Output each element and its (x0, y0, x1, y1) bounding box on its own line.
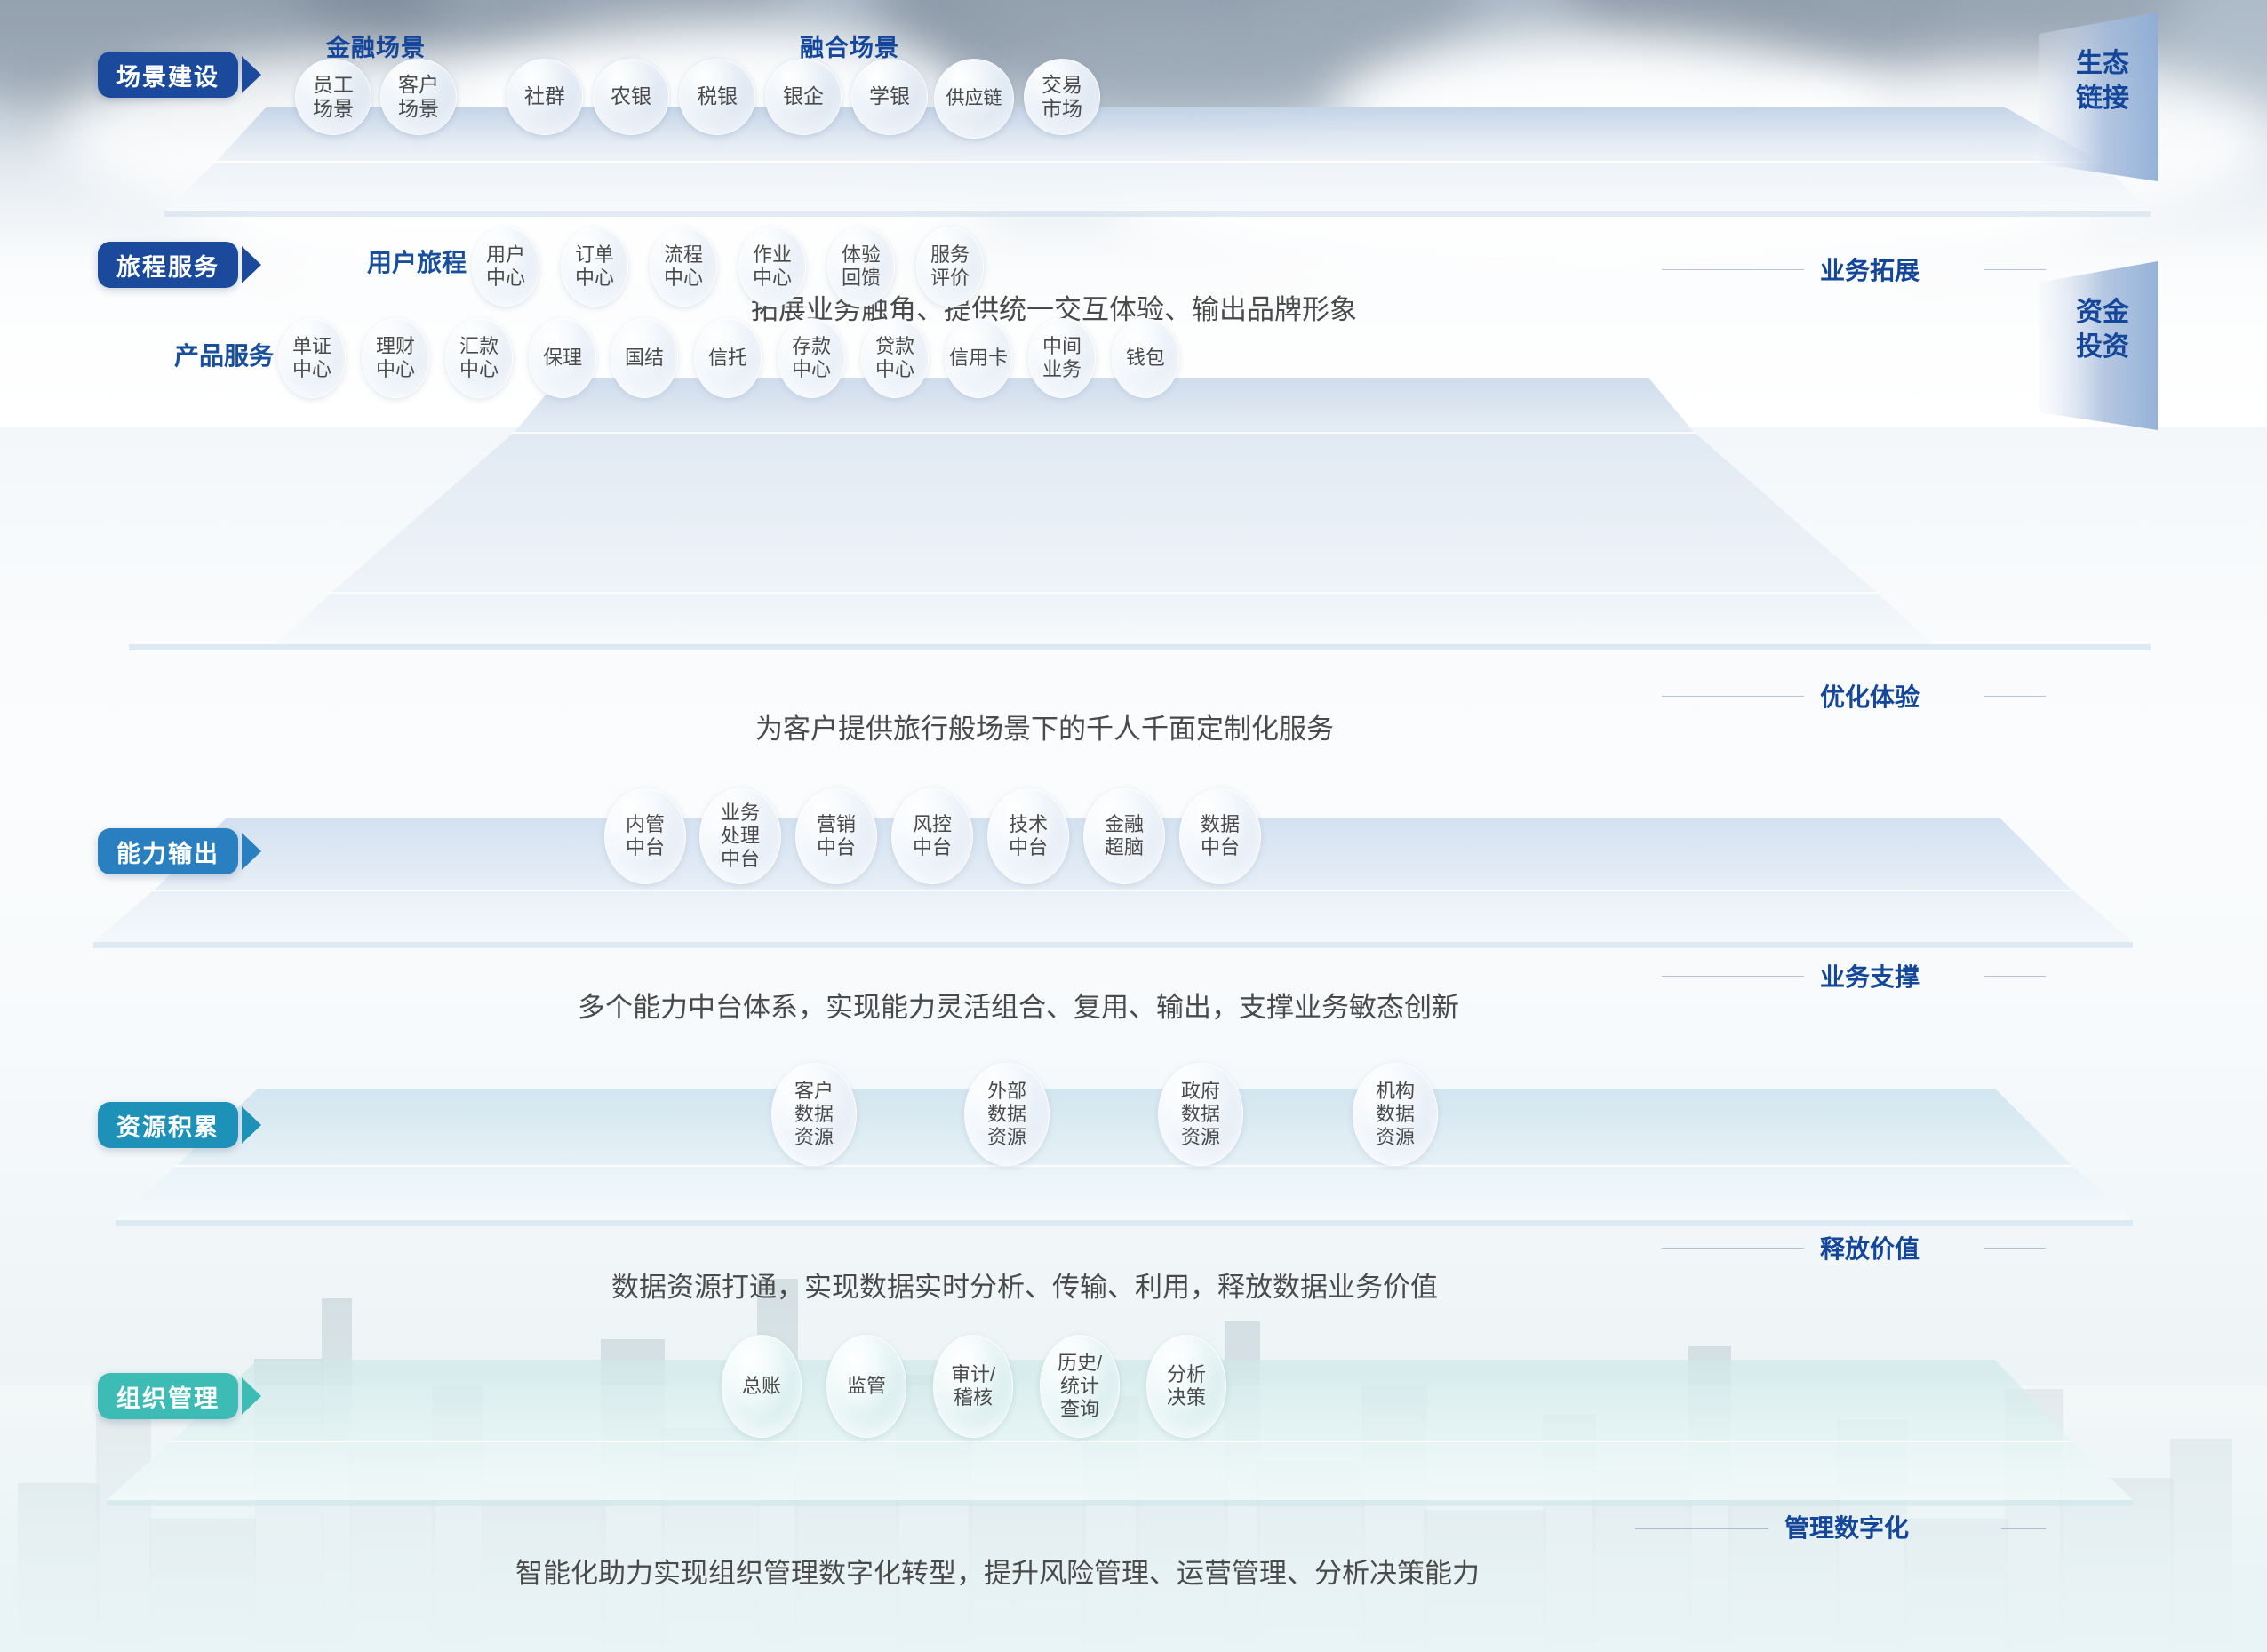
bubble-agri-bank[interactable]: 农银 (593, 59, 669, 135)
keyword-business-support: 业务支撑 (1820, 958, 1920, 994)
bubble-trust[interactable]: 信托 (694, 318, 762, 398)
caption-layer3: 多个能力中台体系，实现能力灵活组合、复用、输出，支撑业务敏态创新 (578, 985, 1459, 1025)
keyword-rule-left-3 (1662, 976, 1804, 977)
keyword-rule-right-5 (2001, 1528, 2046, 1529)
bubble-customer-data-resource[interactable]: 客户数据资源 (771, 1063, 857, 1166)
layer-pill-capability[interactable]: 能力输出 (98, 828, 238, 874)
layer-pill-journey[interactable]: 旅程服务 (98, 242, 238, 288)
bubble-analysis-decision[interactable]: 分析决策 (1146, 1335, 1226, 1438)
bubble-business-process-platform[interactable]: 业务处理中台 (699, 788, 781, 884)
caption-layer4: 数据资源打通，实现数据实时分析、传输、利用，释放数据业务价值 (611, 1265, 1438, 1305)
bubble-service-rating[interactable]: 服务评价 (916, 227, 984, 307)
caption-layer2: 为客户提供旅行般场景下的千人千面定制化服务 (755, 706, 1334, 746)
heading-financial-scene: 金融场景 (326, 28, 426, 63)
bubble-bank-enterprise[interactable]: 银企 (765, 59, 842, 135)
bubble-data-platform[interactable]: 数据中台 (1179, 788, 1261, 884)
bubble-community[interactable]: 社群 (507, 59, 583, 135)
layer-pill-resource[interactable]: 资源积累 (98, 1102, 238, 1148)
group-label-user-journey: 用户旅程 (367, 243, 467, 279)
bubble-experience-feedback[interactable]: 体验回馈 (827, 227, 895, 307)
bubble-tax-bank[interactable]: 税银 (679, 59, 755, 135)
bubble-finance-brain[interactable]: 金融超脑 (1083, 788, 1165, 884)
keyword-rule-right-4 (1984, 1248, 2046, 1249)
bubble-intermediary-business[interactable]: 中间业务 (1028, 318, 1096, 398)
keyword-optimize-experience: 优化体验 (1820, 678, 1920, 714)
bubble-intl-settlement[interactable]: 国结 (611, 318, 678, 398)
group-label-product-service: 产品服务 (174, 337, 274, 372)
bubble-remittance-center[interactable]: 汇款中心 (445, 318, 513, 398)
bubble-government-data-resource[interactable]: 政府数据资源 (1158, 1063, 1243, 1166)
heading-fusion-scene: 融合场景 (800, 28, 899, 63)
bubble-trade-market[interactable]: 交易市场 (1024, 59, 1100, 135)
bubble-wealth-center[interactable]: 理财中心 (362, 318, 429, 398)
bubble-loan-center[interactable]: 贷款中心 (861, 318, 929, 398)
keyword-rule-left-4 (1662, 1248, 1804, 1249)
bubble-risk-platform[interactable]: 风控中台 (891, 788, 973, 884)
bubble-process-center[interactable]: 流程中心 (650, 227, 717, 307)
layer2-slab (0, 373, 2267, 702)
bubble-customer-scene[interactable]: 客户场景 (380, 59, 457, 135)
bubble-history-statistics-query[interactable]: 历史/统计查询 (1040, 1335, 1120, 1438)
keyword-release-value: 释放价值 (1820, 1230, 1920, 1265)
banner-eco-link-label: 生态 链接 (2049, 46, 2156, 116)
bubble-operation-center[interactable]: 作业中心 (738, 227, 806, 307)
keyword-rule-left-2 (1662, 696, 1804, 697)
bubble-marketing-platform[interactable]: 营销中台 (795, 788, 877, 884)
caption-layer5: 智能化助力实现组织管理数字化转型，提升风险管理、运营管理、分析决策能力 (515, 1551, 1480, 1591)
bubble-audit-inspection[interactable]: 审计/稽核 (933, 1335, 1013, 1438)
bubble-general-ledger[interactable]: 总账 (722, 1335, 802, 1438)
bubble-document-center[interactable]: 单证中心 (278, 318, 346, 398)
layer-pill-scene-label: 场景建设 (116, 58, 220, 92)
bubble-user-center[interactable]: 用户中心 (472, 227, 539, 307)
keyword-rule-left-5 (1635, 1528, 1768, 1529)
layer5-slab (0, 1360, 2267, 1537)
keyword-rule-left-1 (1662, 269, 1804, 270)
layer-pill-organization[interactable]: 组织管理 (98, 1373, 238, 1419)
layer-pill-resource-label: 资源积累 (116, 1108, 220, 1143)
bubble-internal-mgmt-platform[interactable]: 内管中台 (604, 788, 686, 884)
layer-pill-capability-label: 能力输出 (116, 834, 220, 869)
layer-pill-scene[interactable]: 场景建设 (98, 52, 238, 98)
keyword-management-digitalization: 管理数字化 (1784, 1509, 1909, 1544)
layer-pill-journey-label: 旅程服务 (116, 248, 220, 283)
bubble-institution-data-resource[interactable]: 机构数据资源 (1353, 1063, 1438, 1166)
bubble-external-data-resource[interactable]: 外部数据资源 (964, 1063, 1050, 1166)
keyword-rule-right-2 (1984, 696, 2046, 697)
layer4-slab (0, 1089, 2267, 1257)
bubble-deposit-center[interactable]: 存款中心 (778, 318, 845, 398)
bubble-order-center[interactable]: 订单中心 (561, 227, 628, 307)
bubble-wallet[interactable]: 钱包 (1112, 318, 1179, 398)
bubble-tech-platform[interactable]: 技术中台 (987, 788, 1069, 884)
keyword-business-expansion: 业务拓展 (1820, 251, 1920, 287)
bubble-credit-card[interactable]: 信用卡 (945, 318, 1012, 398)
bubble-factoring[interactable]: 保理 (529, 318, 596, 398)
banner-capital-investment-label: 资金 投资 (2049, 295, 2156, 364)
layer-pill-organization-label: 组织管理 (116, 1379, 220, 1414)
bubble-supervision[interactable]: 监管 (826, 1335, 906, 1438)
bubble-employee-scene[interactable]: 员工场景 (295, 59, 371, 135)
bubble-supply-chain[interactable]: 供应链 (934, 59, 1014, 139)
keyword-rule-right-3 (1984, 976, 2046, 977)
bubble-school-bank[interactable]: 学银 (851, 59, 928, 135)
